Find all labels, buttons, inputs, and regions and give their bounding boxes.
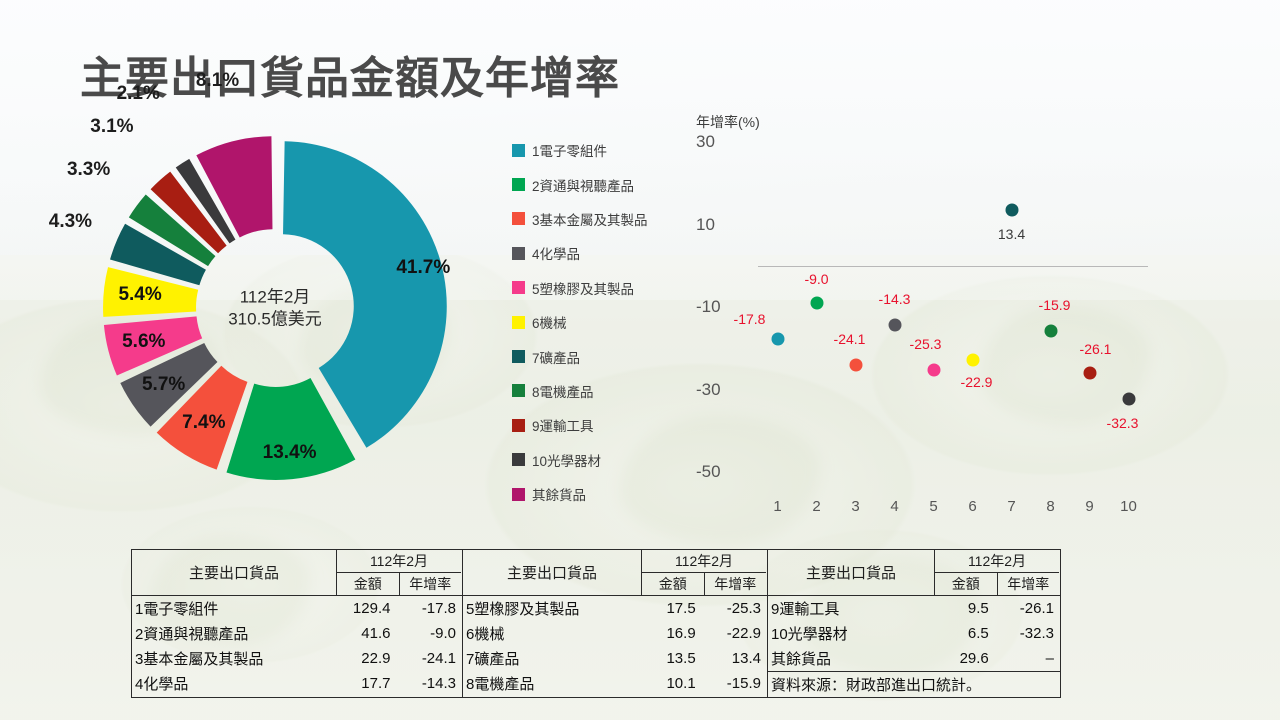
scatter-point[interactable] xyxy=(1044,325,1057,338)
scatter-point[interactable] xyxy=(927,364,940,377)
table-cell-amount: 6.5 xyxy=(930,625,995,642)
table-cell-amount: 10.1 xyxy=(636,675,701,692)
table-cell-growth: -26.1 xyxy=(995,600,1060,617)
table-cell-growth: -9.0 xyxy=(396,625,462,642)
scatter-point[interactable] xyxy=(1122,392,1135,405)
donut-center-text: 112年2月 310.5億美元 xyxy=(228,286,322,330)
legend-item[interactable]: 10光學器材 xyxy=(512,443,672,477)
table-block: 主要出口貨品112年2月金額年增率1電子零組件129.4-17.82資通與視聽產… xyxy=(131,549,462,698)
table-row: 其餘貨品29.6– xyxy=(768,646,1060,671)
legend-item-label: 6機械 xyxy=(532,312,567,332)
scatter-x-tick: 6 xyxy=(968,498,976,515)
table-cell-name: 9運輸工具 xyxy=(768,598,930,619)
table-cell-amount: 22.9 xyxy=(331,650,397,667)
legend-item-label: 1電子零組件 xyxy=(532,140,607,160)
legend-item-label: 4化學品 xyxy=(532,243,580,263)
table-cell-amount: 9.5 xyxy=(930,600,995,617)
legend-swatch-icon xyxy=(512,488,525,501)
table-header-name: 主要出口貨品 xyxy=(463,550,642,595)
scatter-y-tick: -50 xyxy=(696,462,721,482)
table-header: 主要出口貨品112年2月金額年增率 xyxy=(463,550,767,596)
table-header: 主要出口貨品112年2月金額年增率 xyxy=(768,550,1060,596)
table-header-period-group: 112年2月金額年增率 xyxy=(337,550,461,595)
legend-item-label: 5塑橡膠及其製品 xyxy=(532,278,634,298)
table-cell-growth: -14.3 xyxy=(396,675,462,692)
table-cell-growth: -22.9 xyxy=(702,625,767,642)
table-header-name: 主要出口貨品 xyxy=(768,550,935,595)
legend-item[interactable]: 6機械 xyxy=(512,305,672,339)
legend-swatch-icon xyxy=(512,384,525,397)
table-cell-amount: 16.9 xyxy=(636,625,701,642)
donut-center-line1: 112年2月 xyxy=(228,286,322,308)
legend-swatch-icon xyxy=(512,419,525,432)
table-header-growth: 年增率 xyxy=(998,573,1060,595)
scatter-x-tick: 9 xyxy=(1085,498,1093,515)
table-cell-amount: 17.7 xyxy=(331,675,397,692)
table-cell-name: 6機械 xyxy=(463,623,636,644)
table-header-period: 112年2月 xyxy=(337,550,461,573)
scatter-y-tick: 30 xyxy=(696,132,715,152)
table-row: 4化學品17.7-14.3 xyxy=(132,671,462,696)
legend-item[interactable]: 1電子零組件 xyxy=(512,133,672,167)
table-row: 5塑橡膠及其製品17.5-25.3 xyxy=(463,596,767,621)
donut-chart: 41.7%13.4%7.4%5.7%5.6%5.4%4.3%3.3%3.1%2.… xyxy=(60,108,490,508)
table-row: 2資通與視聽產品41.6-9.0 xyxy=(132,621,462,646)
table-cell-name: 1電子零組件 xyxy=(132,598,331,619)
scatter-y-tick: -10 xyxy=(696,297,721,317)
table-block: 主要出口貨品112年2月金額年增率9運輸工具9.5-26.110光學器材6.5-… xyxy=(767,549,1061,698)
table-cell-growth: -32.3 xyxy=(995,625,1060,642)
scatter-x-tick: 2 xyxy=(812,498,820,515)
legend-item[interactable]: 3基本金屬及其製品 xyxy=(512,202,672,236)
scatter-x-tick: 10 xyxy=(1120,498,1137,515)
scatter-point-label: -17.8 xyxy=(734,311,766,327)
scatter-point[interactable] xyxy=(1005,204,1018,217)
donut-percent-label: 7.4% xyxy=(182,412,225,434)
legend-swatch-icon xyxy=(512,453,525,466)
scatter-x-tick: 5 xyxy=(929,498,937,515)
table-cell-amount: 129.4 xyxy=(331,600,397,617)
legend-item[interactable]: 5塑橡膠及其製品 xyxy=(512,271,672,305)
table-row: 6機械16.9-22.9 xyxy=(463,621,767,646)
legend-item-label: 2資通與視聽產品 xyxy=(532,175,634,195)
table-cell-growth: -25.3 xyxy=(702,600,767,617)
donut-percent-label: 3.1% xyxy=(90,116,133,138)
table-cell-amount: 13.5 xyxy=(636,650,701,667)
scatter-point[interactable] xyxy=(888,318,901,331)
table-cell-name: 10光學器材 xyxy=(768,623,930,644)
table-cell-name: 5塑橡膠及其製品 xyxy=(463,598,636,619)
scatter-zero-line xyxy=(758,266,1148,267)
table-header-amount: 金額 xyxy=(337,573,400,595)
table-cell-name: 4化學品 xyxy=(132,673,331,694)
table-cell-growth: -15.9 xyxy=(702,675,767,692)
table-cell-name: 7礦產品 xyxy=(463,648,636,669)
legend-item[interactable]: 7礦產品 xyxy=(512,339,672,373)
table-row: 8電機產品10.1-15.9 xyxy=(463,671,767,696)
legend-swatch-icon xyxy=(512,144,525,157)
scatter-y-tick: -30 xyxy=(696,380,721,400)
table-cell-growth: -24.1 xyxy=(396,650,462,667)
table-cell-growth: – xyxy=(995,650,1060,667)
table-header-period-group: 112年2月金額年增率 xyxy=(935,550,1059,595)
table-header-period: 112年2月 xyxy=(642,550,766,573)
donut-percent-label: 5.7% xyxy=(142,374,185,396)
table-cell-growth: -17.8 xyxy=(396,600,462,617)
scatter-x-tick: 3 xyxy=(851,498,859,515)
scatter-point-label: -15.9 xyxy=(1039,297,1071,313)
legend-item-label: 3基本金屬及其製品 xyxy=(532,209,648,229)
scatter-x-tick: 1 xyxy=(773,498,781,515)
legend-item-label: 10光學器材 xyxy=(532,450,601,470)
scatter-chart: 年增率(%) 3010-10-30-5012345678910-17.8-9.0… xyxy=(688,112,1168,532)
scatter-point-label: -9.0 xyxy=(804,271,828,287)
legend-item[interactable]: 4化學品 xyxy=(512,236,672,270)
scatter-point[interactable] xyxy=(771,333,784,346)
table-row: 9運輸工具9.5-26.1 xyxy=(768,596,1060,621)
table-cell-name: 3基本金屬及其製品 xyxy=(132,648,331,669)
table-header-name: 主要出口貨品 xyxy=(132,550,337,595)
legend-swatch-icon xyxy=(512,281,525,294)
scatter-point[interactable] xyxy=(1083,367,1096,380)
scatter-point[interactable] xyxy=(966,354,979,367)
scatter-x-tick: 7 xyxy=(1007,498,1015,515)
page-title: 主要出口貨品金額及年增率 xyxy=(80,42,620,106)
table-cell-amount: 17.5 xyxy=(636,600,701,617)
table-header-period-group: 112年2月金額年增率 xyxy=(642,550,766,595)
legend-swatch-icon xyxy=(512,350,525,363)
table-cell-name: 8電機產品 xyxy=(463,673,636,694)
table-cell-amount: 29.6 xyxy=(930,650,995,667)
table-row: 1電子零組件129.4-17.8 xyxy=(132,596,462,621)
table-cell-amount: 41.6 xyxy=(331,625,397,642)
scatter-point-label: -24.1 xyxy=(834,331,866,347)
legend-item[interactable]: 其餘貨品 xyxy=(512,477,672,511)
legend-item-label: 其餘貨品 xyxy=(532,484,586,504)
table-row: 7礦產品13.513.4 xyxy=(463,646,767,671)
donut-center-line2: 310.5億美元 xyxy=(228,308,322,330)
data-tables: 主要出口貨品112年2月金額年增率1電子零組件129.4-17.82資通與視聽產… xyxy=(131,549,1160,698)
table-row: 3基本金屬及其製品22.9-24.1 xyxy=(132,646,462,671)
donut-percent-label: 41.7% xyxy=(396,257,450,279)
donut-percent-label: 13.4% xyxy=(263,442,317,464)
scatter-axis-title: 年增率(%) xyxy=(696,112,760,132)
legend-item[interactable]: 9運輸工具 xyxy=(512,408,672,442)
legend-item-label: 8電機產品 xyxy=(532,381,594,401)
legend-swatch-icon xyxy=(512,316,525,329)
table-header: 主要出口貨品112年2月金額年增率 xyxy=(132,550,462,596)
scatter-x-tick: 4 xyxy=(890,498,898,515)
table-cell-name: 其餘貨品 xyxy=(768,648,930,669)
table-cell-name: 2資通與視聽產品 xyxy=(132,623,331,644)
scatter-point-label: -14.3 xyxy=(879,291,911,307)
table-block: 主要出口貨品112年2月金額年增率5塑橡膠及其製品17.5-25.36機械16.… xyxy=(462,549,767,698)
legend-swatch-icon xyxy=(512,178,525,191)
donut-percent-label: 8.1% xyxy=(196,70,239,92)
legend-item[interactable]: 2資通與視聽產品 xyxy=(512,167,672,201)
legend-item-label: 9運輸工具 xyxy=(532,415,594,435)
table-row: 10光學器材6.5-32.3 xyxy=(768,621,1060,646)
table-header-growth: 年增率 xyxy=(400,573,462,595)
donut-percent-label: 5.6% xyxy=(122,331,165,353)
donut-percent-label: 5.4% xyxy=(118,284,161,306)
donut-percent-label: 4.3% xyxy=(49,211,92,233)
table-footnote: 資料來源：財政部進出口統計。 xyxy=(768,671,1060,697)
table-header-amount: 金額 xyxy=(642,573,705,595)
scatter-point-label: -32.3 xyxy=(1107,415,1139,431)
legend-item-label: 7礦產品 xyxy=(532,347,580,367)
scatter-point-label: -25.3 xyxy=(910,336,942,352)
chart-legend: 1電子零組件2資通與視聽產品3基本金屬及其製品4化學品5塑橡膠及其製品6機械7礦… xyxy=(512,133,672,511)
legend-item[interactable]: 8電機產品 xyxy=(512,374,672,408)
scatter-point-label: 13.4 xyxy=(998,226,1025,242)
table-header-amount: 金額 xyxy=(935,573,998,595)
donut-percent-label: 3.3% xyxy=(67,159,110,181)
scatter-y-tick: 10 xyxy=(696,215,715,235)
scatter-point[interactable] xyxy=(849,359,862,372)
table-header-growth: 年增率 xyxy=(705,573,767,595)
scatter-x-tick: 8 xyxy=(1046,498,1054,515)
scatter-point[interactable] xyxy=(810,296,823,309)
table-header-period: 112年2月 xyxy=(935,550,1059,573)
scatter-point-label: -22.9 xyxy=(961,374,993,390)
donut-percent-label: 2.1% xyxy=(117,83,160,105)
table-cell-growth: 13.4 xyxy=(702,650,767,667)
legend-swatch-icon xyxy=(512,247,525,260)
legend-swatch-icon xyxy=(512,212,525,225)
scatter-point-label: -26.1 xyxy=(1080,341,1112,357)
